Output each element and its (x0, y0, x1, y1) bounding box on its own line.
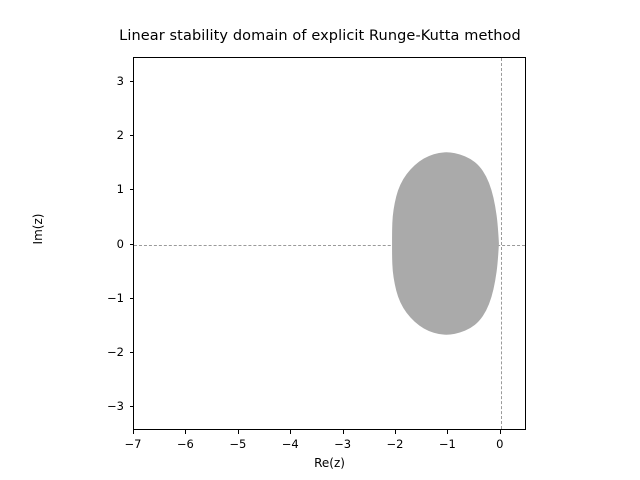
x-tick (447, 430, 448, 434)
y-tick-label: −1 (84, 291, 124, 305)
x-tick-label: −1 (427, 437, 467, 451)
y-tick (130, 352, 134, 353)
figure-canvas: Linear stability domain of explicit Rung… (0, 0, 640, 480)
stability-region-shape (134, 58, 525, 429)
y-tick (130, 406, 134, 407)
x-tick-label: −3 (323, 437, 363, 451)
y-tick-label: −3 (84, 399, 124, 413)
y-tick (130, 189, 134, 190)
y-tick-label: 0 (84, 237, 124, 251)
y-tick (130, 244, 134, 245)
y-tick-label: −2 (84, 345, 124, 359)
x-tick-label: −4 (270, 437, 310, 451)
chart-title: Linear stability domain of explicit Rung… (0, 28, 640, 44)
x-tick (133, 430, 134, 434)
y-tick-label: 2 (84, 128, 124, 142)
x-tick-label: −2 (375, 437, 415, 451)
x-tick (185, 430, 186, 434)
x-tick-label: −7 (113, 437, 153, 451)
x-tick (290, 430, 291, 434)
y-tick-label: 1 (84, 182, 124, 196)
x-tick-label: 0 (480, 437, 520, 451)
y-tick (130, 135, 134, 136)
plot-area (133, 57, 526, 430)
x-tick (500, 430, 501, 434)
y-axis-label: Im(z) (31, 159, 45, 299)
x-tick (343, 430, 344, 434)
x-tick (238, 430, 239, 434)
x-tick (395, 430, 396, 434)
y-tick-label: 3 (84, 74, 124, 88)
x-axis-label: Re(z) (133, 456, 526, 470)
x-tick-label: −6 (165, 437, 205, 451)
y-tick (130, 298, 134, 299)
x-tick-label: −5 (218, 437, 258, 451)
y-tick (130, 81, 134, 82)
